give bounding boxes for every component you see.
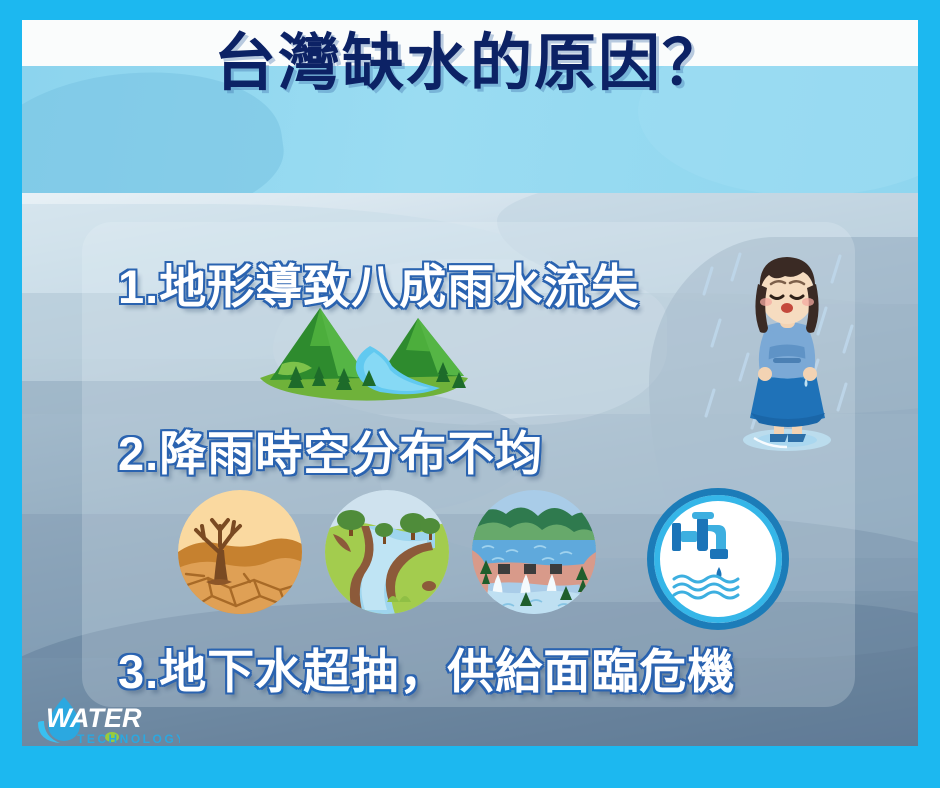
dam-reservoir-circle-illustration bbox=[472, 490, 596, 614]
river-valley-circle-illustration bbox=[325, 490, 449, 614]
water-technology-logo: WATER TECHNOLOGY bbox=[30, 693, 180, 749]
page-title: 台灣缺水的原因？ bbox=[0, 14, 940, 114]
sad-girl-in-rain-illustration bbox=[726, 248, 848, 453]
infographic-poster: 台灣缺水的原因？ bbox=[0, 0, 940, 788]
cause-line-1: 1.地形導致八成雨水流失 bbox=[118, 248, 639, 317]
faucet-water-circle-icon bbox=[647, 488, 789, 630]
cause-line-2: 2.降雨時空分布不均 bbox=[118, 415, 543, 484]
logo-sub-text: TECHNOLOGY bbox=[77, 732, 180, 746]
drought-circle-illustration bbox=[178, 490, 302, 614]
bottom-cyan-border bbox=[0, 746, 940, 788]
logo-main-text: WATER bbox=[46, 703, 142, 733]
cause-line-3: 3.地下水超抽，供給面臨危機 bbox=[118, 633, 735, 702]
